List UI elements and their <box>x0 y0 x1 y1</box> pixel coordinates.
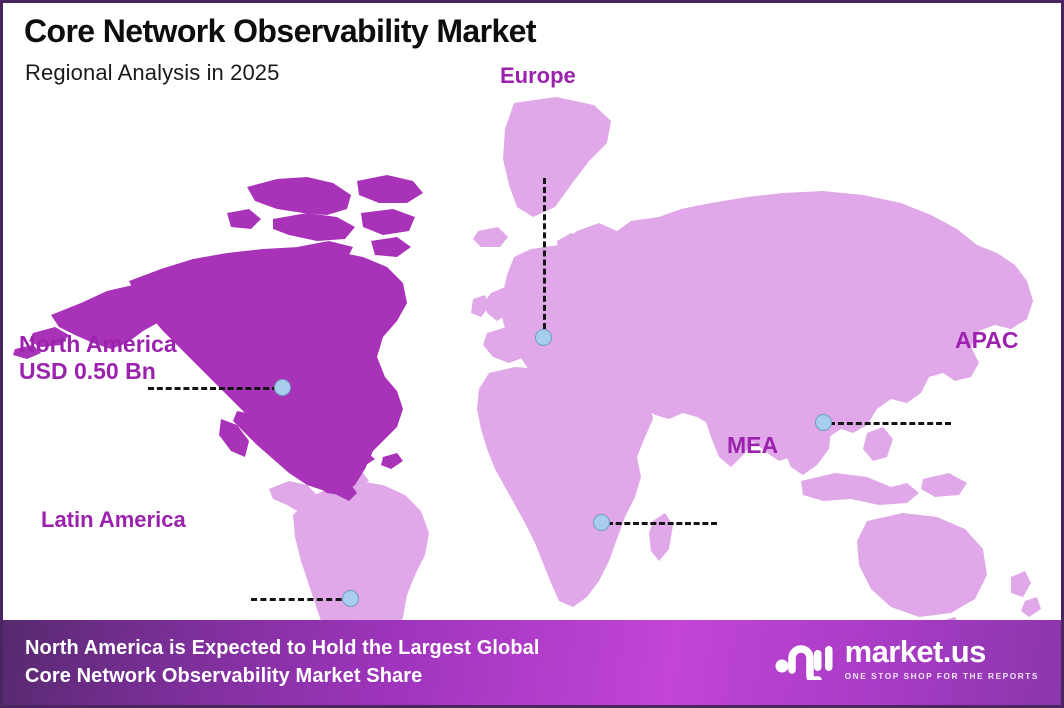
banner-headline-line1: North America is Expected to Hold the La… <box>25 637 540 659</box>
banner-headline: North America is Expected to Hold the La… <box>25 634 540 691</box>
region-label-latin-america[interactable]: Latin America <box>41 507 186 533</box>
logo-name: market.us <box>845 636 1039 667</box>
map-marker-mea[interactable] <box>593 514 610 531</box>
region-label-apac[interactable]: APAC <box>955 327 1018 354</box>
region-label-north-america-value: USD 0.50 Bn <box>19 358 177 385</box>
region-label-north-america[interactable]: North America USD 0.50 Bn <box>19 331 177 385</box>
page-title: Core Network Observability Market <box>24 13 536 50</box>
map-marker-europe[interactable] <box>535 329 552 346</box>
connector-europe <box>543 178 546 338</box>
region-label-mea[interactable]: MEA <box>727 432 778 459</box>
banner-headline-line2: Core Network Observability Market Share <box>25 662 540 690</box>
connector-apac <box>829 422 951 425</box>
bottom-banner: North America is Expected to Hold the La… <box>3 620 1061 705</box>
logo-tagline: ONE STOP SHOP FOR THE REPORTS <box>845 671 1039 681</box>
region-label-europe[interactable]: Europe <box>500 63 576 89</box>
region-label-north-america-name: North America <box>19 331 177 357</box>
connector-latin-america <box>251 598 351 601</box>
map-marker-apac[interactable] <box>815 414 832 431</box>
connector-north-america <box>148 387 278 390</box>
market-us-logo-words: market.us ONE STOP SHOP FOR THE REPORTS <box>845 636 1039 681</box>
market-us-logo-mark-icon <box>774 638 834 680</box>
connector-mea <box>607 522 717 525</box>
infographic-root: Core Network Observability Market Region… <box>0 0 1064 708</box>
market-us-logo[interactable]: market.us ONE STOP SHOP FOR THE REPORTS <box>774 636 1039 681</box>
map-marker-latin-america[interactable] <box>342 590 359 607</box>
map-marker-north-america[interactable] <box>274 379 291 396</box>
